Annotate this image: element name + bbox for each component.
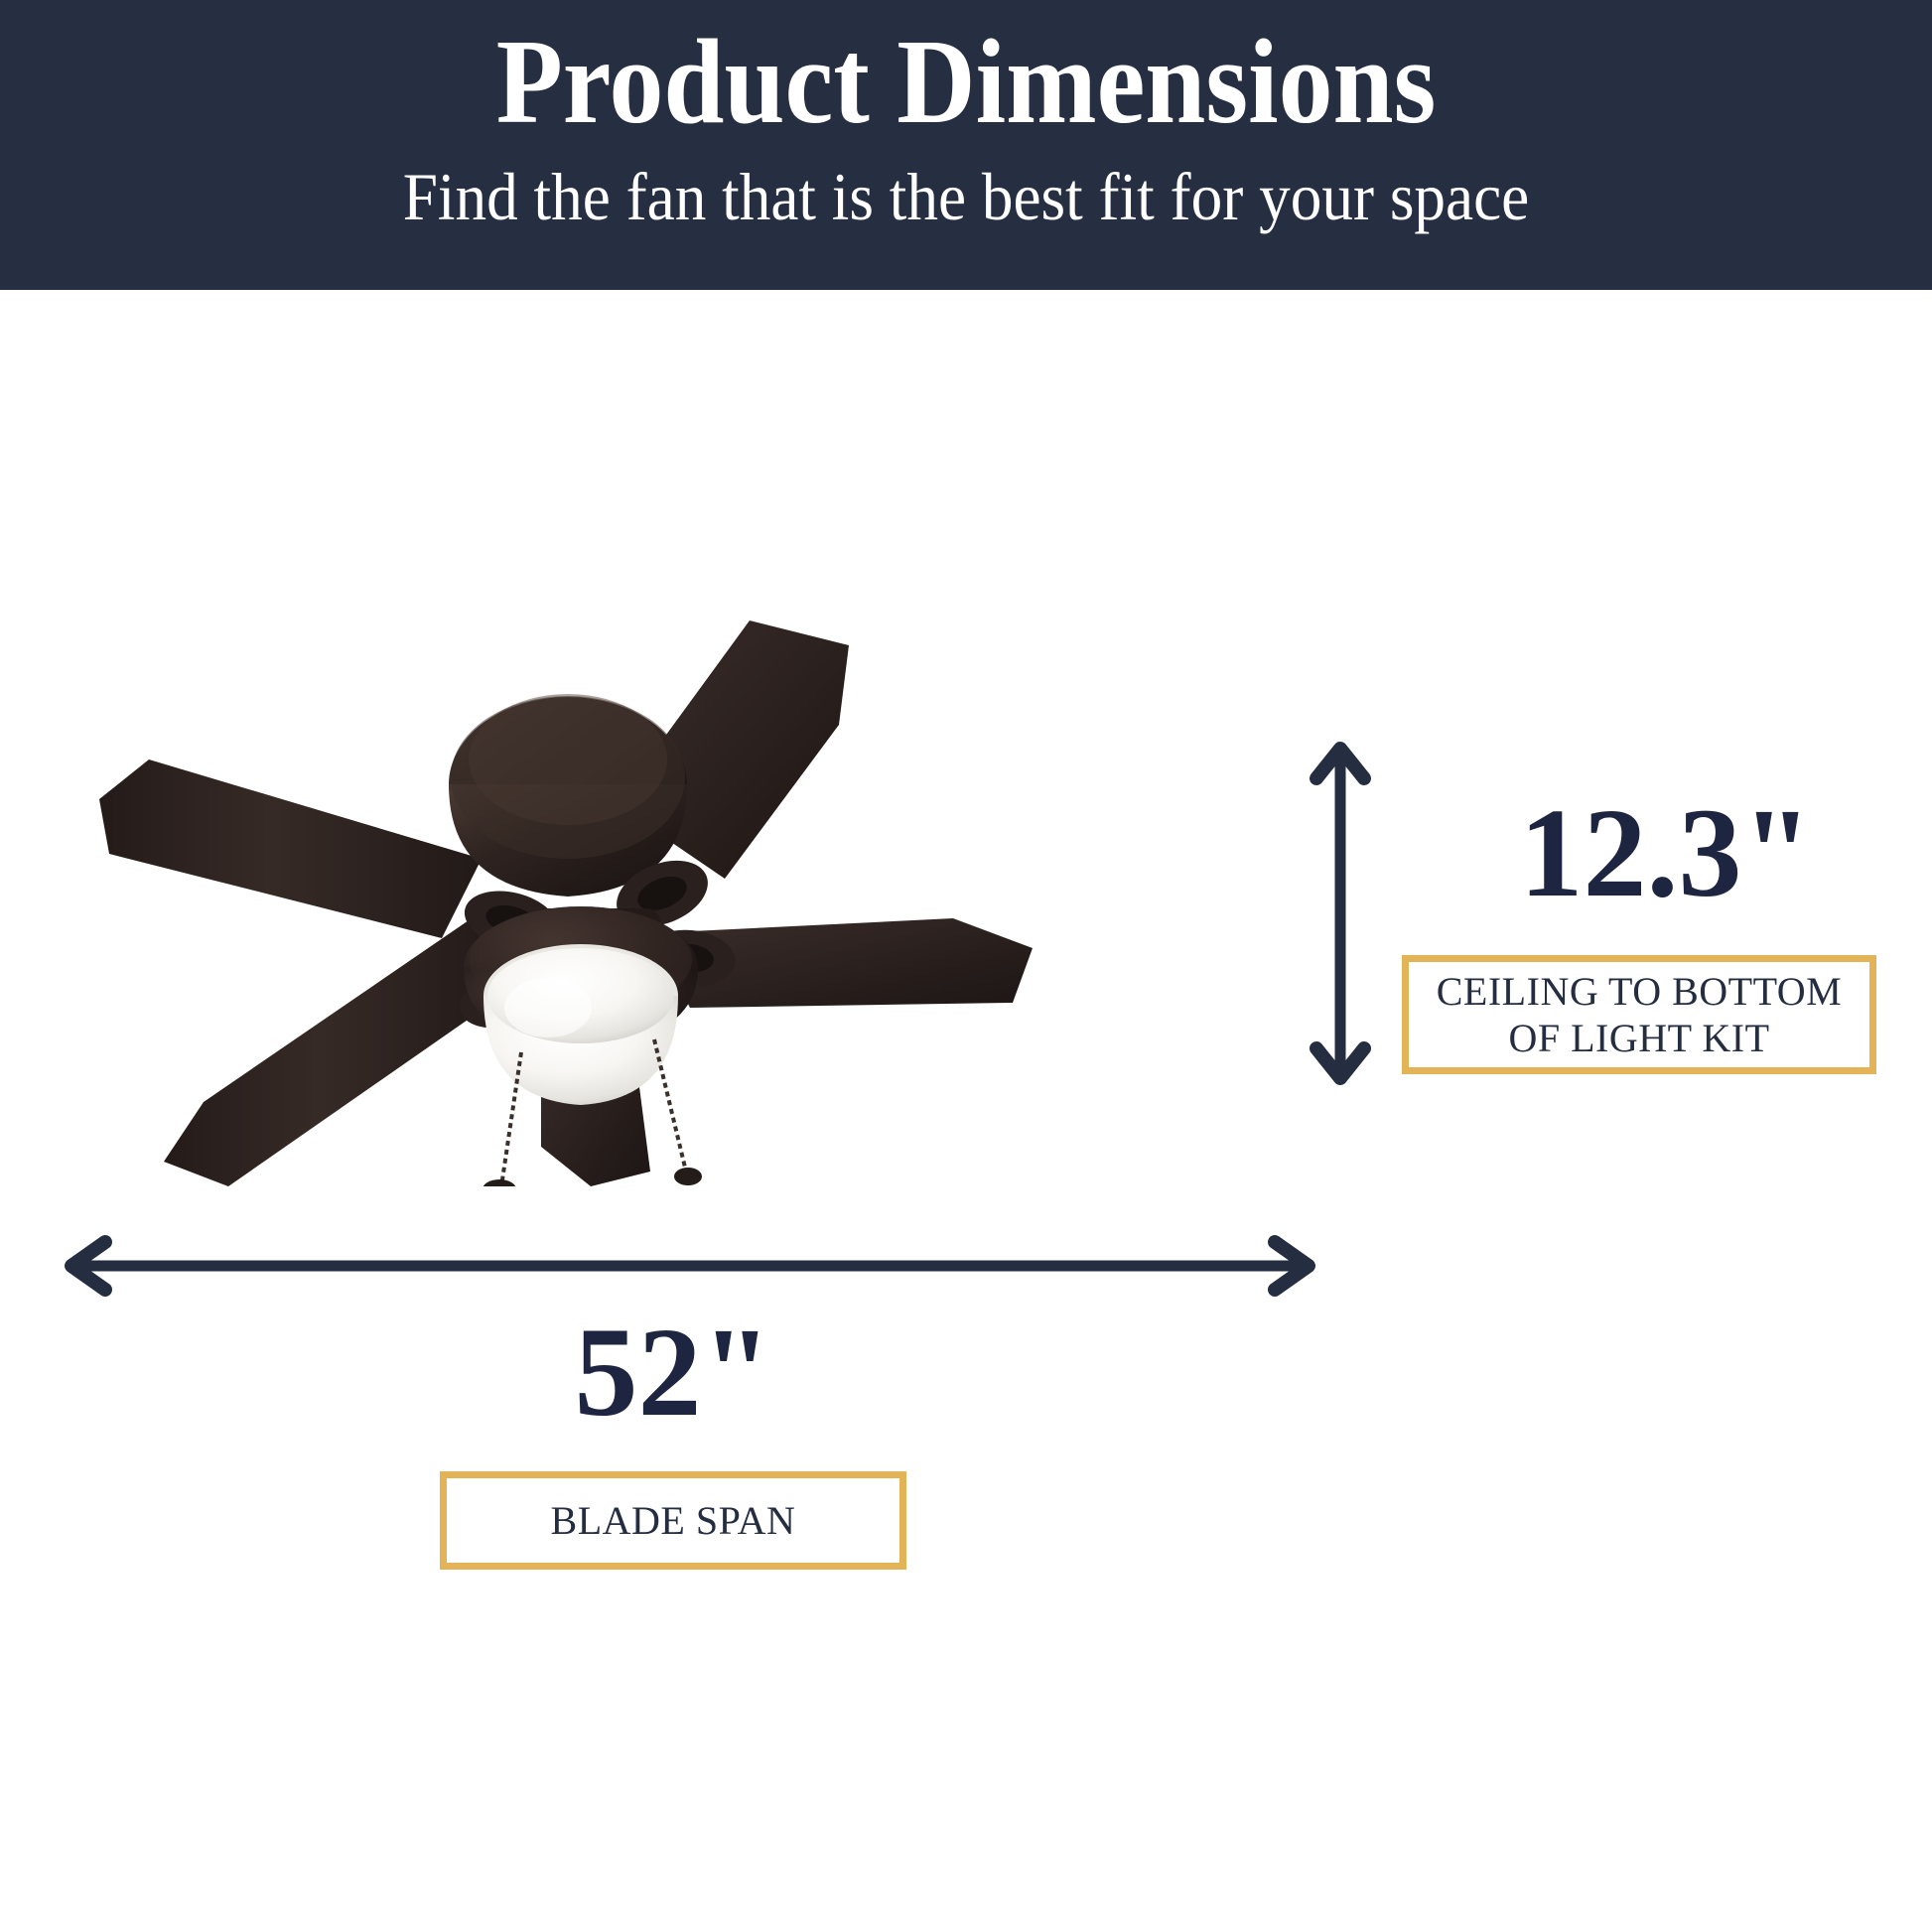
header-band: Product Dimensions Find the fan that is … [0, 0, 1932, 290]
width-dimension-group [50, 1231, 1330, 1301]
height-caption-box: CEILING TO BOTTOM OF LIGHT KIT [1402, 955, 1876, 1074]
height-value-label: 12.3" [1400, 789, 1932, 916]
width-caption-box: BLADE SPAN [440, 1471, 906, 1570]
width-caption-text: BLADE SPAN [541, 1497, 806, 1544]
page-title: Product Dimensions [96, 0, 1835, 143]
horizontal-double-arrow-icon [50, 1231, 1330, 1301]
page-subtitle: Find the fan that is the best fit for yo… [68, 143, 1864, 230]
vertical-double-arrow-icon [1301, 735, 1380, 1092]
height-caption-text: CEILING TO BOTTOM OF LIGHT KIT [1427, 968, 1853, 1061]
light-kit-glass-shade [483, 944, 678, 1105]
ceiling-fan-product-image [55, 591, 1092, 1186]
width-value-label: 52" [440, 1309, 906, 1436]
